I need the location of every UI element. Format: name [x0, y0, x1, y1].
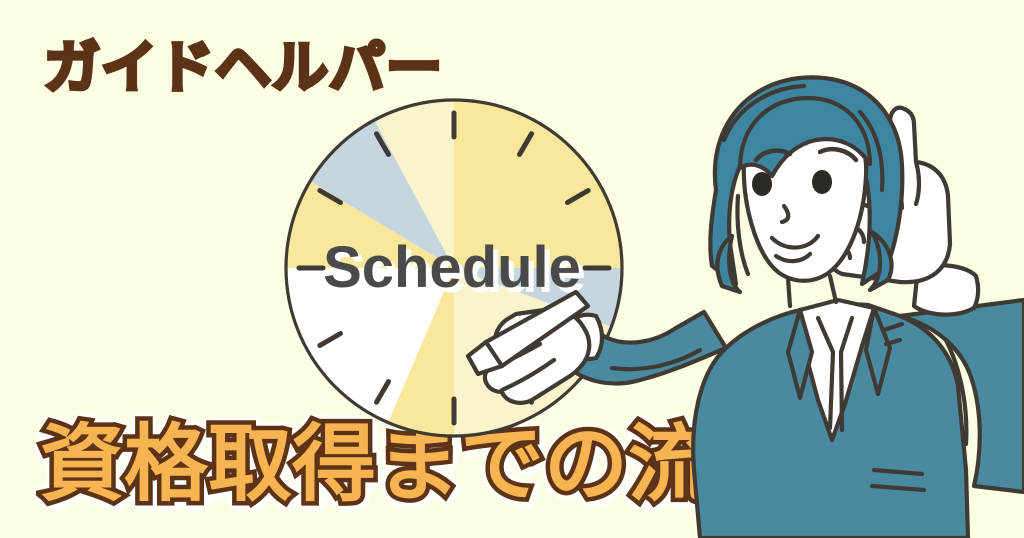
eye-right: [812, 170, 832, 194]
neck-left: [788, 278, 790, 306]
eye-left: [752, 172, 772, 196]
neck-right: [830, 276, 836, 302]
business-woman-illustration: [0, 0, 1024, 538]
poster-canvas: Schedule Schedule: [0, 0, 1024, 538]
